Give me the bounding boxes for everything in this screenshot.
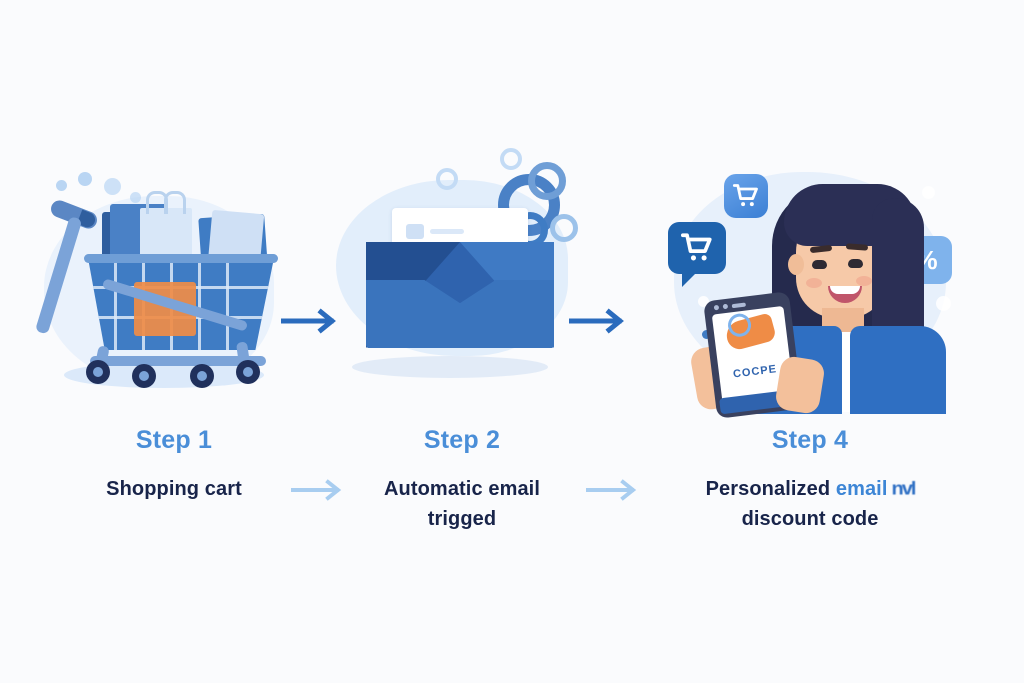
step-3-description-line-1: Personalized emailnvl [660, 474, 960, 504]
connector-arrow-low-1 [291, 478, 347, 502]
gear-icon [550, 214, 578, 242]
decorative-dot [56, 180, 67, 191]
arrow-right-icon [291, 478, 347, 502]
step-3-labels: Step 4 Personalized emailnvl discount co… [660, 428, 960, 534]
decorative-dot [130, 192, 141, 203]
step-3-description: Personalized emailnvl discount code [660, 474, 960, 534]
shopping-cart-illustration [24, 150, 324, 410]
cart-glyph-icon [680, 231, 714, 265]
infographic-canvas: Step 1 Shopping cart @ [0, 0, 1024, 683]
envelope-shadow [352, 356, 548, 378]
cart-wheel [190, 364, 214, 388]
letter-avatar-block [406, 224, 424, 239]
step-2-labels: Step 2 Automatic email trigged [312, 428, 612, 534]
step-3-description-line-2: discount code [660, 504, 960, 534]
product-shoe-image [723, 312, 777, 351]
arrow-right-icon [586, 478, 642, 502]
gear-icon [436, 168, 458, 190]
step-2-title: Step 2 [312, 428, 612, 453]
cheek-blush [856, 276, 872, 286]
step-2-description: Automatic email trigged [312, 474, 612, 534]
arrow-right-icon [569, 308, 629, 334]
step-3-block: % COCPE [660, 150, 960, 570]
connector-arrow-top-2 [569, 308, 629, 334]
connector-arrow-top-1 [281, 308, 341, 334]
step-1-block: Step 1 Shopping cart [24, 150, 324, 570]
cart-badge-icon [724, 174, 768, 218]
cart-glyph-icon [732, 182, 760, 210]
cart-speech-bubble-badge [668, 222, 726, 274]
cheek-blush [806, 278, 822, 288]
step-3-title: Step 4 [660, 428, 960, 453]
step-1-title: Step 1 [24, 428, 324, 453]
eye [812, 260, 827, 269]
decorative-dot [922, 186, 935, 199]
step-1-labels: Step 1 Shopping cart [24, 428, 324, 504]
cart-wheel [236, 360, 260, 384]
woman-with-phone-illustration: % COCPE [660, 150, 960, 410]
description-prefix: Personalized [706, 478, 836, 500]
text-render-artifact: nvl [892, 475, 915, 503]
cart-wheel [86, 360, 110, 384]
step-2-description-line-2: trigged [312, 504, 612, 534]
arrow-right-icon [281, 308, 341, 334]
cart-wheel [132, 364, 156, 388]
cart-basket-rim [84, 254, 278, 263]
decorative-dot [78, 172, 92, 186]
ear [788, 254, 804, 275]
gear-icon [528, 162, 566, 200]
step-1-description: Shopping cart [24, 474, 324, 504]
decorative-dot [104, 178, 121, 195]
description-highlight: email [836, 478, 888, 500]
gear-icon [500, 148, 522, 170]
blazer-right [850, 326, 946, 414]
connector-arrow-low-2 [586, 478, 642, 502]
decorative-dot [936, 296, 951, 311]
step-2-description-line-1: Automatic email [312, 474, 612, 504]
email-envelope-illustration: @ [312, 150, 612, 410]
step-2-block: @ Step 2 Automatic email trigged [312, 150, 612, 570]
eye [848, 259, 863, 268]
phone-status-bar [714, 302, 746, 311]
